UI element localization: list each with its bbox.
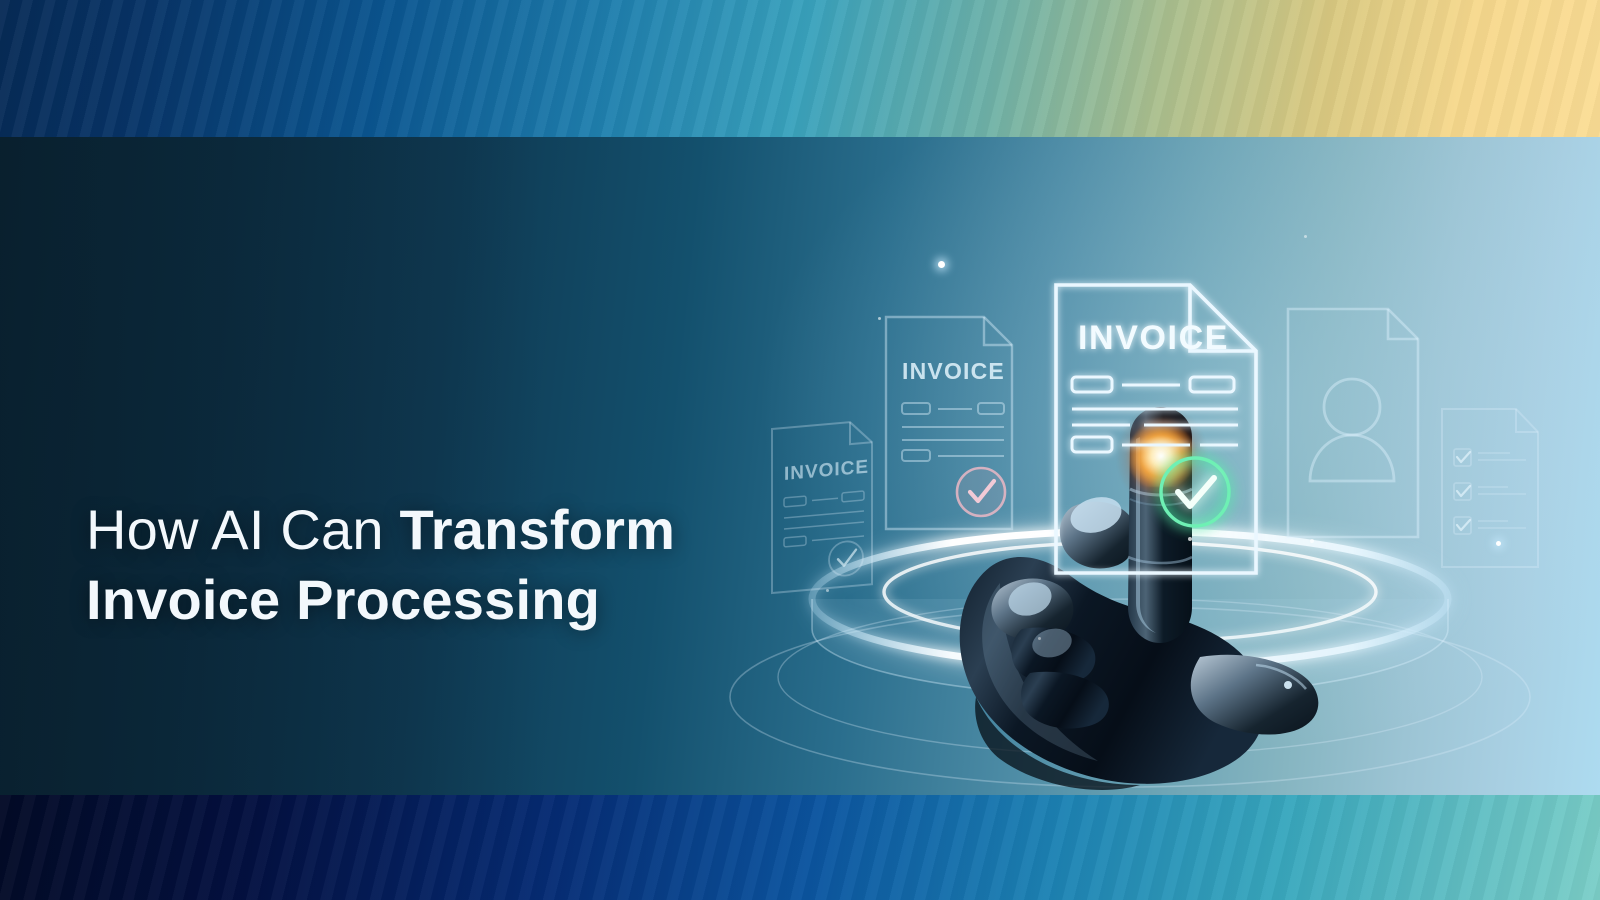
- banner-image: How AI Can Transform Invoice Processing: [0, 0, 1600, 900]
- top-gradient-bar: [0, 0, 1600, 137]
- bottom-bar-streak-texture: [0, 795, 1600, 900]
- invoice-main-document: INVOICE: [700, 137, 1600, 795]
- hero-band: How AI Can Transform Invoice Processing: [0, 137, 1600, 795]
- check-circle-green-icon: [1161, 458, 1229, 526]
- hologram-scene: INVOICE INVOICE: [700, 137, 1600, 795]
- bottom-gradient-bar: [0, 795, 1600, 900]
- headline-bold-part: Transform: [399, 498, 675, 561]
- top-bar-streak-texture: [0, 0, 1600, 137]
- svg-text:INVOICE: INVOICE: [1078, 319, 1229, 357]
- headline-light-part: How AI Can: [86, 498, 399, 561]
